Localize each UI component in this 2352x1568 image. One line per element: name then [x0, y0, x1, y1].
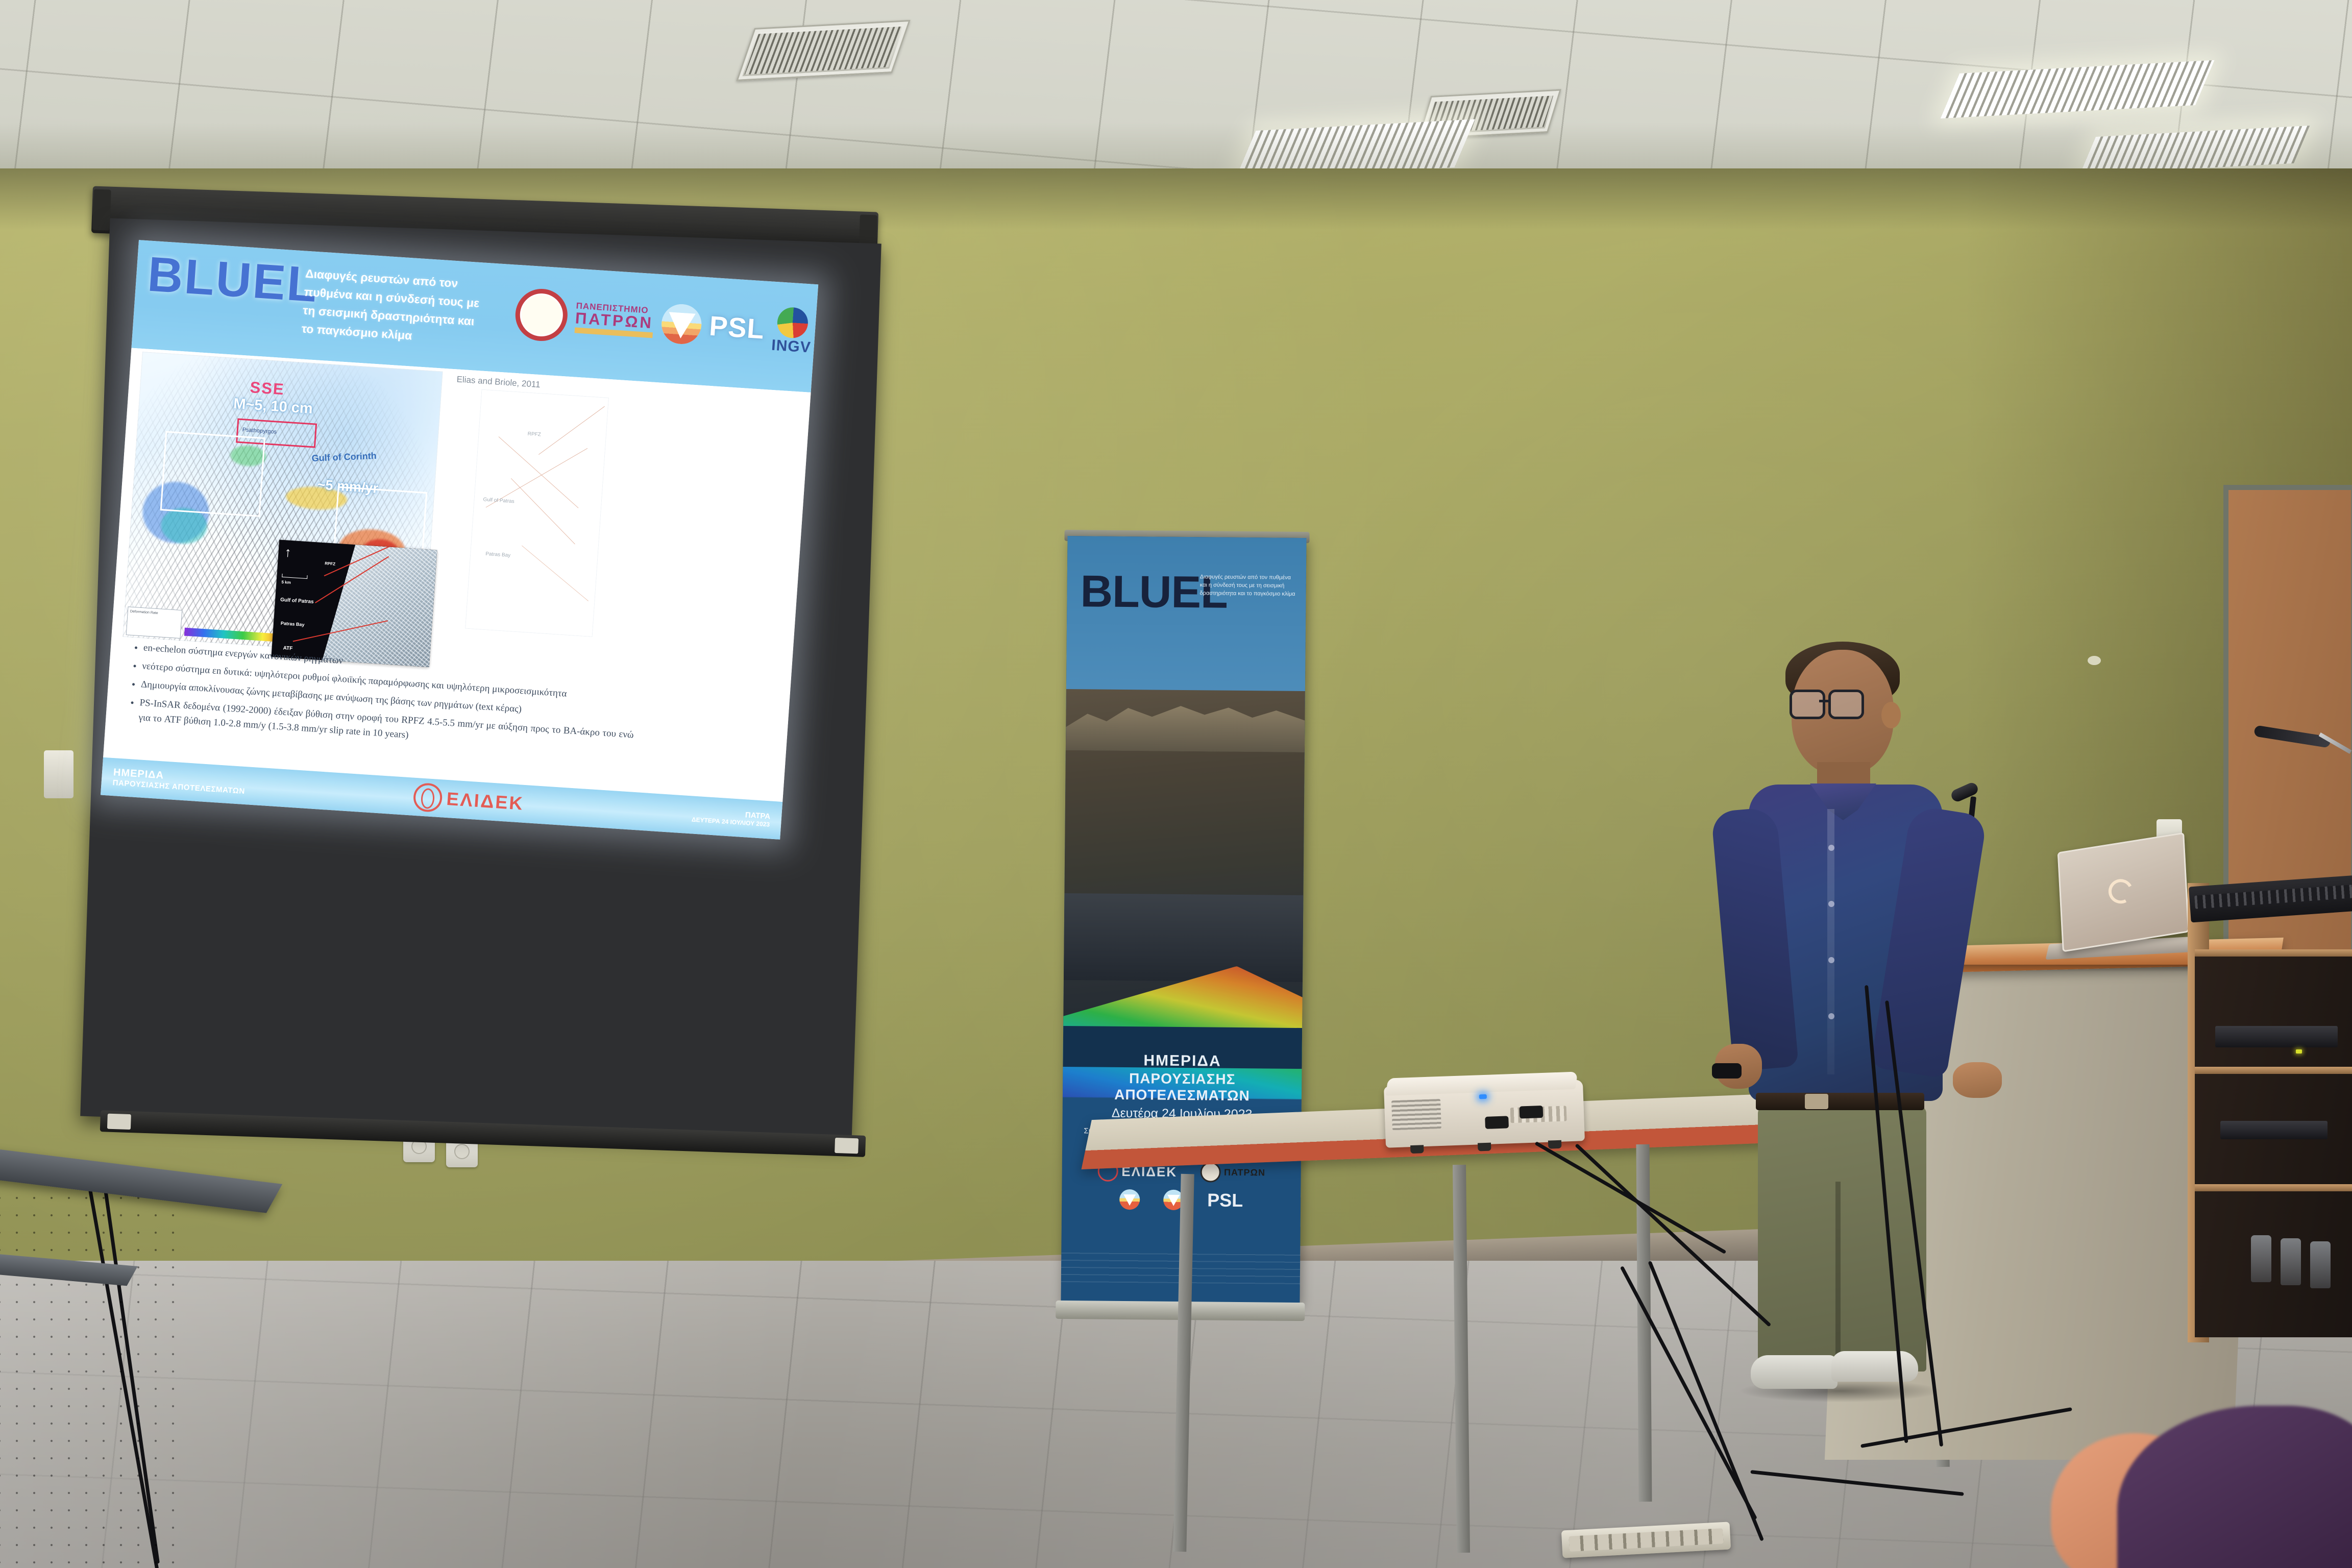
map-inset-box: [334, 486, 428, 551]
presenter-belt-buckle: [1805, 1094, 1828, 1109]
slide-logo-row: ΠΑΝΕΠΙΣΤΗΜΙΟ ΠΑΤΡΩΝ PSL INGV: [513, 287, 814, 359]
ingv-label: INGV: [771, 337, 812, 357]
scale-label: 5 km: [281, 580, 291, 585]
presenter-ear: [1881, 702, 1901, 728]
conference-room-photo: BLUEL Διαφυγές ρευστών από τον πυθμένα κ…: [0, 0, 2352, 1568]
presenter-hand-right: [1953, 1062, 2002, 1098]
fault-map-gulf-of-patras: Gulf of Patras Patras Bay RPFZ: [465, 389, 609, 637]
screen-surface: BLUEL Διαφυγές ρευστών από τον πυθμένα κ…: [80, 218, 881, 1141]
footer-right: ΠΑΤΡΑ ΔΕΥΤΕΡΑ 24 ΙΟΥΛΙΟΥ 2023: [692, 807, 771, 828]
map-legend: Deformation Rate: [126, 606, 183, 639]
equipment-status-led: [2296, 1049, 2302, 1053]
projector-cable-plug: [1485, 1116, 1509, 1129]
banner-event-title: ΗΜΕΡΙΔΑ: [1063, 1051, 1302, 1071]
water-bottle[interactable]: [2251, 1235, 2271, 1282]
university-of-patras-logo: [513, 287, 569, 342]
upatras-seal-icon: [1200, 1162, 1221, 1182]
presentation-clicker[interactable]: [1712, 1063, 1742, 1079]
banner-event-subtitle: ΠΑΡΟΥΣΙΑΣΗΣ ΑΠΟΤΕΛΕΣΜΑΤΩΝ: [1063, 1070, 1302, 1105]
water-bottle[interactable]: [2281, 1238, 2301, 1285]
institute-v-logo: [660, 303, 702, 346]
slide-body: SSE M~5, 10 cm Psathopyrgos Gulf of Cori…: [103, 348, 811, 802]
projector[interactable]: [1384, 1080, 1585, 1148]
elidek-logo: ΕΛΙΔΕΚ: [412, 782, 525, 818]
slide-brand-title: BLUEL: [146, 250, 320, 310]
psl-logo: PSL: [708, 310, 766, 346]
projector-cable-plug: [1520, 1106, 1543, 1119]
wall-mark: [2088, 656, 2101, 665]
map-inset-box: [160, 431, 265, 517]
wall-switch-plate[interactable]: [44, 750, 73, 798]
banner-psl-logo: PSL: [1207, 1189, 1243, 1211]
projector-vent-grille: [1391, 1099, 1441, 1130]
patras-bay-label: Patras Bay: [281, 621, 305, 627]
presenter-eyeglasses: [1790, 690, 1866, 716]
sse-annotation: SSE: [249, 378, 285, 399]
satellite-insar-patras: ↑ 5 km Gulf of Patras Patras Bay ATF RPF…: [271, 540, 437, 667]
shelf-equipment[interactable]: [2215, 1026, 2338, 1047]
footer-left: ΗΜΕΡΙΔΑ ΠΑΡΟΥΣΙΑΣΗΣ ΑΠΟΤΕΛΕΣΜΑΤΩΝ: [112, 767, 246, 796]
side-desk-front-panel: [0, 1189, 179, 1568]
equipment-shelf: [2195, 949, 2352, 1337]
highlight-box-label: Psathopyrgos: [242, 427, 277, 435]
presenter-trousers: [1758, 1106, 1926, 1371]
rpfz-label: RPFZ: [325, 561, 335, 566]
north-arrow-icon: ↑: [284, 545, 292, 559]
foreground-audience-member: [2071, 1357, 2352, 1568]
ingv-logo: INGV: [771, 306, 814, 357]
banner-water: [1064, 893, 1303, 982]
banner-institute-logo: [1119, 1189, 1140, 1210]
legend-text: Deformation Rate: [130, 609, 158, 616]
shelf-equipment[interactable]: [2220, 1121, 2327, 1139]
audience-shoulder: [2117, 1406, 2352, 1568]
water-bottle[interactable]: [2310, 1241, 2331, 1288]
shelf-board: [2195, 1067, 2352, 1074]
ceiling-air-vent: [736, 20, 910, 81]
scale-bar: [282, 574, 307, 579]
presenter-laptop[interactable]: [2057, 839, 2190, 946]
map-b-label: RPFZ: [527, 431, 541, 438]
presenter-shoe: [1831, 1351, 1918, 1382]
university-of-patras-wordmark: ΠΑΝΕΠΙΣΤΗΜΙΟ ΠΑΤΡΩΝ: [574, 301, 654, 338]
presenter-shoe: [1751, 1355, 1837, 1389]
upatras-wordmark: ΠΑΤΡΩΝ: [1224, 1167, 1265, 1178]
projection-screen: BLUEL Διαφυγές ρευστών από τον πυθμένα κ…: [87, 199, 883, 1169]
slide-bullet-list: en-echelon σύστημα ενεργών κανονικών ρηγ…: [120, 639, 638, 761]
slide-subtitle: Διαφυγές ρευστών από τον πυθμένα και η σ…: [301, 264, 484, 350]
map-b-label: Gulf of Patras: [483, 497, 514, 504]
shelf-board: [2195, 949, 2352, 957]
shelf-board: [2195, 1184, 2352, 1191]
banner-upatras-logo: ΠΑΤΡΩΝ: [1200, 1162, 1265, 1183]
banner-sky: [1066, 536, 1307, 712]
map-b-label: Patras Bay: [485, 551, 511, 558]
elidek-mark-icon: [412, 782, 443, 813]
gulf-of-patras-label: Gulf of Patras: [280, 597, 314, 605]
presenter-trouser-seam: [1835, 1182, 1841, 1370]
presenter: [1700, 641, 1986, 1391]
banner-subtitle: Διαφυγές ρευστών από τον πυθμένα και η σ…: [1200, 573, 1297, 598]
elidek-wordmark: ΕΛΙΔΕΚ: [446, 788, 524, 815]
projected-slide: BLUEL Διαφυγές ρευστών από τον πυθμένα κ…: [101, 240, 818, 840]
ingv-globe-icon: [776, 306, 809, 339]
projector-power-led: [1479, 1094, 1487, 1099]
citation-text: Elias and Briole, 2011: [456, 374, 541, 390]
